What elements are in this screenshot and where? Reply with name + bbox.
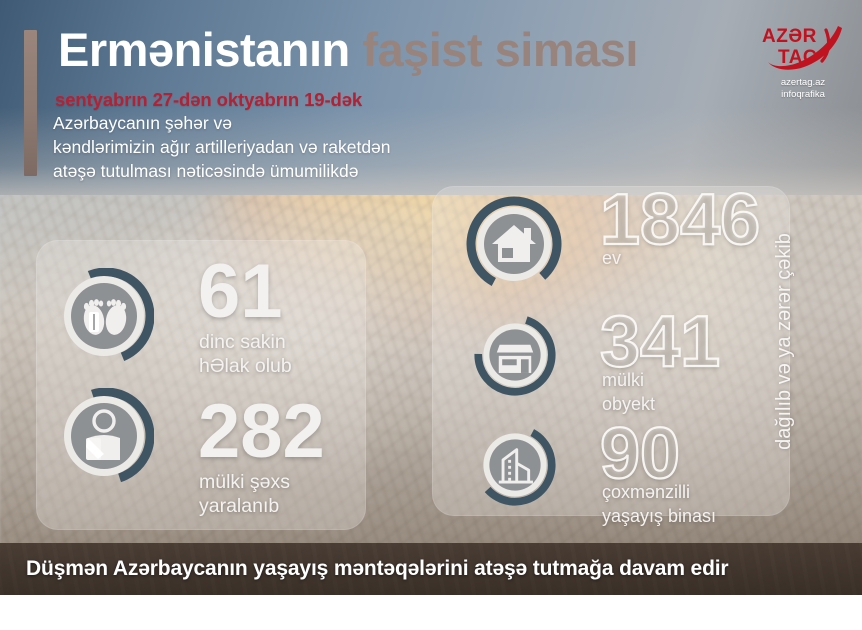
stat-label-line-1: çoxmənzilli <box>602 480 716 504</box>
apartment-building-icon <box>474 424 556 506</box>
stat-label-line-2: obyekt <box>602 392 655 416</box>
title-part-two: faşist siması <box>362 23 638 76</box>
damage-side-note: dağılıb və ya zərər çəkib <box>773 233 796 450</box>
bottom-banner-text: Düşmən Azərbaycanın yaşayış məntəqələrin… <box>0 557 728 581</box>
logo-word-azer: AZƏR <box>762 26 817 48</box>
header-description-line-2: kəndlərimizin ağır artilleriyadan və rak… <box>53 135 391 159</box>
page-title: Ermənistanın faşist siması <box>58 22 638 77</box>
stat-label: mülki obyekt <box>602 368 655 416</box>
infographic-poster: Ermənistanın faşist siması sentyabrın 27… <box>0 0 862 630</box>
stat-label-line-2: yaralanıb <box>199 494 290 518</box>
stat-label-line-2: hƏlak olub <box>199 354 292 378</box>
stat-value: 1846 <box>600 184 760 256</box>
footer-white-strip <box>0 595 862 630</box>
header-description: Azərbaycanın şəhər və kəndlərimizin ağır… <box>53 111 391 183</box>
stat-label-line-1: mülki şəxs <box>199 470 290 494</box>
stat-label: ev <box>602 246 621 270</box>
stat-label: çoxmənzilli yaşayış binası <box>602 480 716 528</box>
stat-value: 282 <box>198 394 325 470</box>
mortuary-feet-icon <box>58 268 154 364</box>
header-description-line-3: atəşə tutulması nəticəsində ümumilikdə <box>53 159 391 183</box>
stat-label-line-2: yaşayış binası <box>602 504 716 528</box>
date-range-text: sentyabrın 27-dən oktyabrın 19-dək <box>55 89 362 111</box>
header-description-line-1: Azərbaycanın şəhər və <box>53 111 391 135</box>
title-accent-bar <box>24 30 37 176</box>
logo-section: infoqrafika <box>760 89 846 101</box>
stat-label: dinc sakin hƏlak olub <box>199 330 292 378</box>
stat-label-line-1: dinc sakin <box>199 330 292 354</box>
stat-label-line-1: ev <box>602 246 621 270</box>
shop-icon <box>474 314 556 396</box>
injured-person-icon <box>58 388 154 484</box>
house-icon <box>466 196 562 292</box>
logo-mark: AZƏR TAC <box>760 24 846 76</box>
logo-website: azertag.az <box>760 77 846 89</box>
stat-value: 61 <box>198 254 283 330</box>
azertac-logo[interactable]: AZƏR TAC azertag.az infoqrafika <box>760 24 846 106</box>
logo-word-tac: TAC <box>778 47 817 69</box>
title-part-one: Ermənistanın <box>58 23 350 76</box>
stat-label-line-1: mülki <box>602 368 655 392</box>
logo-subtext: azertag.az infoqrafika <box>760 77 846 101</box>
bottom-banner: Düşmən Azərbaycanın yaşayış məntəqələrin… <box>0 543 862 595</box>
stat-label: mülki şəxs yaralanıb <box>199 470 290 518</box>
